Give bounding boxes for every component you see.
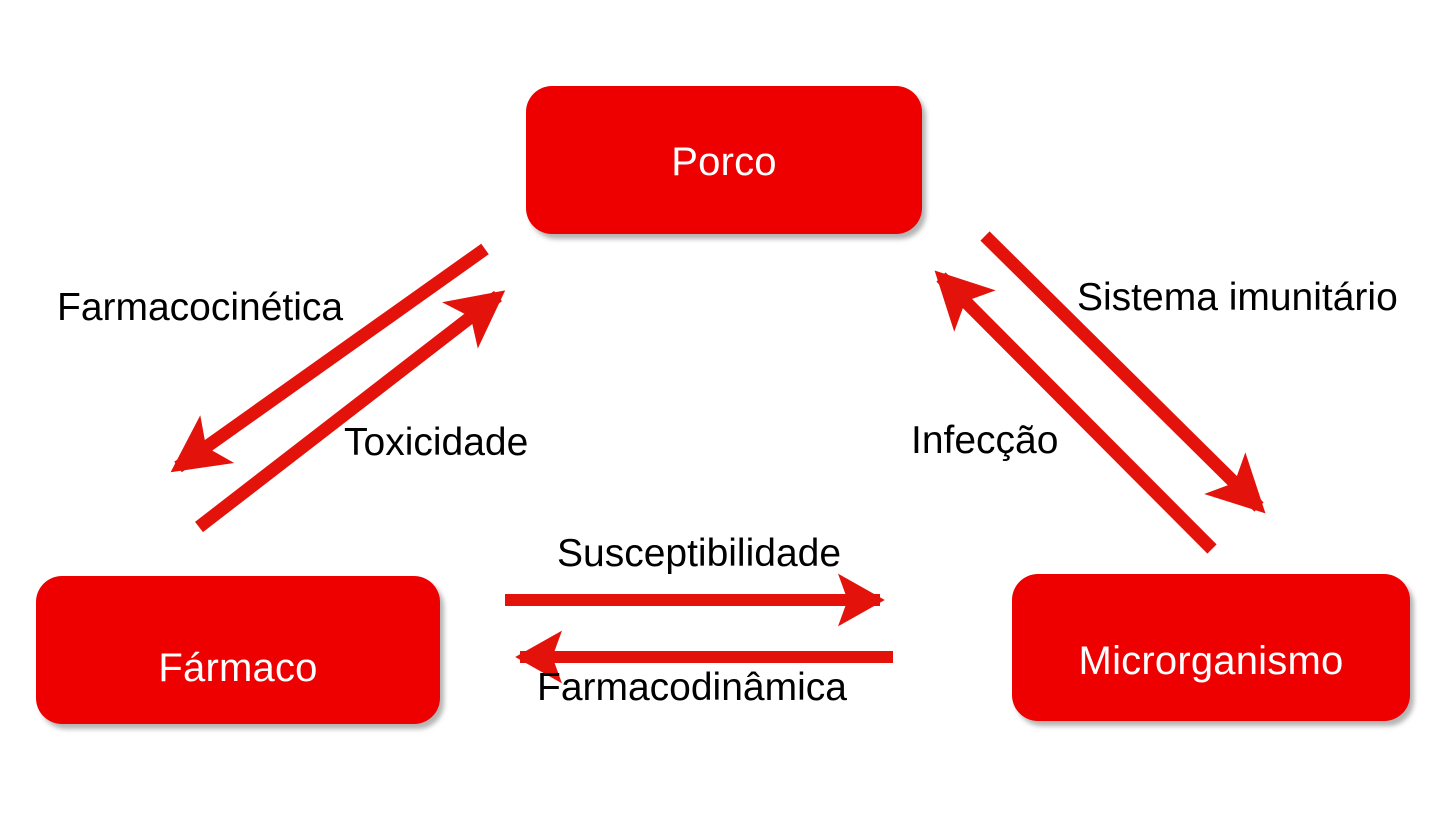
edge-label-farmacocinetica: Farmacocinética xyxy=(57,288,343,328)
node-farmaco-label: Fármaco xyxy=(158,646,317,691)
node-farmaco[interactable]: Fármaco xyxy=(36,576,440,724)
node-microrganismo-label: Microrganismo xyxy=(1079,639,1344,684)
node-microrganismo[interactable]: Microrganismo xyxy=(1012,574,1410,721)
arrow-toxicidade xyxy=(199,296,498,527)
edge-label-susceptibilidade: Susceptibilidade xyxy=(557,534,841,574)
edge-label-farmacodinamica: Farmacodinâmica xyxy=(537,668,847,708)
node-porco[interactable]: Porco xyxy=(526,86,922,234)
diagram-canvas: Porco Fármaco Microrganismo Farmacocinét… xyxy=(0,0,1450,817)
node-porco-label: Porco xyxy=(671,140,777,185)
edge-label-toxicidade: Toxicidade xyxy=(344,423,528,463)
edge-label-sistema-imunitario: Sistema imunitário xyxy=(1077,278,1398,318)
edge-label-infeccao: Infecção xyxy=(911,421,1058,461)
